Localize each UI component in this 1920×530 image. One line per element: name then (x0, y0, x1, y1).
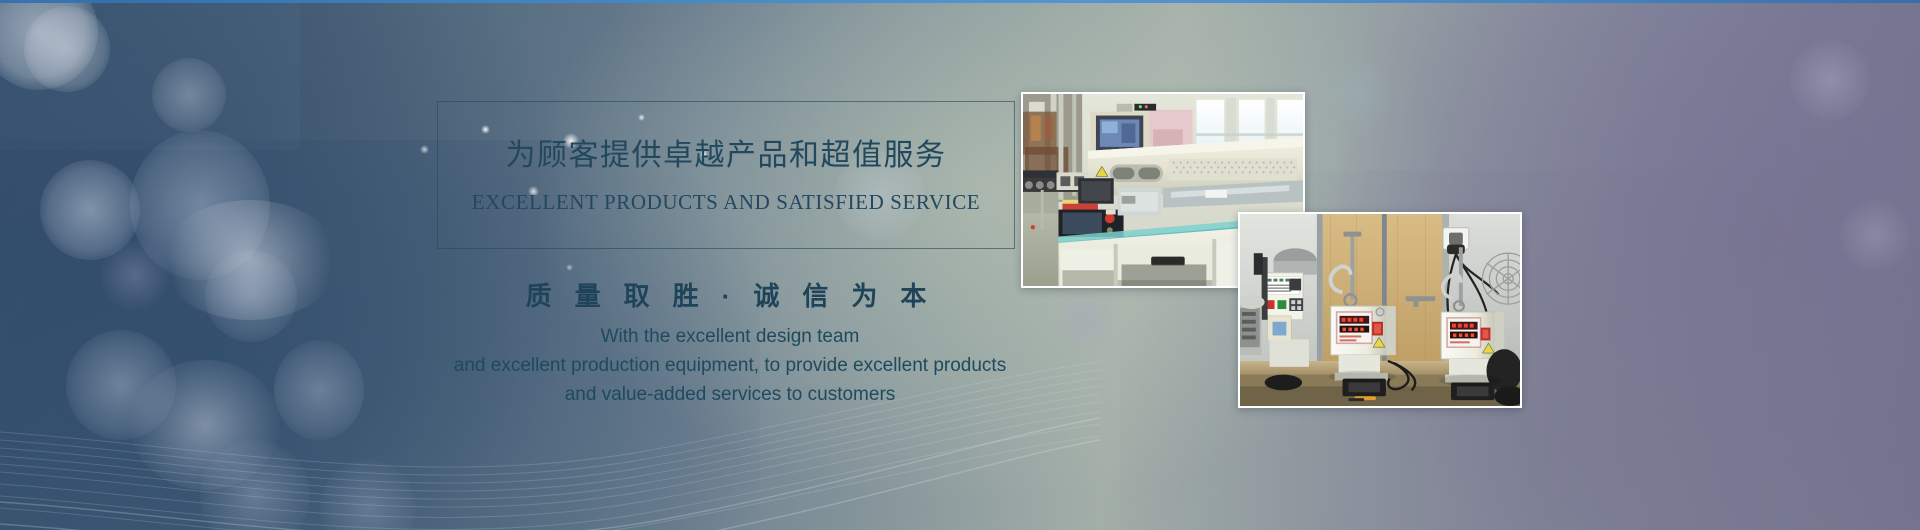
promo-banner: 为顾客提供卓越产品和超值服务 EXCELLENT PRODUCTS AND SA… (0, 0, 1920, 530)
photo-2-illustration (1240, 214, 1520, 406)
description-line-2: and excellent production equipment, to p… (330, 351, 1130, 380)
banner-content: 为顾客提供卓越产品和超值服务 EXCELLENT PRODUCTS AND SA… (0, 0, 1920, 530)
headline-chinese: 为顾客提供卓越产品和超值服务 (437, 130, 1015, 174)
description-line-3: and value-added services to customers (330, 380, 1130, 409)
photo-bench-press-machines-workshop (1238, 212, 1522, 408)
headline-english: EXCELLENT PRODUCTS AND SATISFIED SERVICE (437, 190, 1015, 215)
description-paragraph: With the excellent design team and excel… (330, 322, 1130, 409)
headline-frame (437, 101, 1015, 249)
description-line-1: With the excellent design team (330, 322, 1130, 351)
slogan-chinese: 质量取胜·诚信为本 (400, 276, 1052, 313)
